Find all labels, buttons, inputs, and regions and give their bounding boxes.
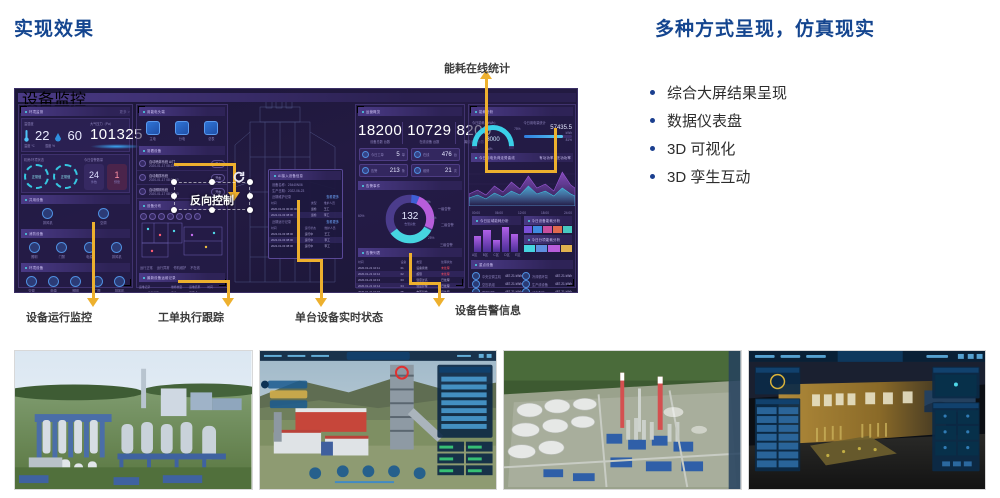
- floorplan-map[interactable]: [140, 221, 226, 259]
- corner-decor: [456, 279, 463, 286]
- kpi-value: 476: [442, 152, 452, 158]
- page-title-right: 多种方式呈现，仿真现实: [655, 14, 875, 41]
- alarm-donut-chart: 132 告警总数 5% 一级告警 10% 二级告警 25% 三级告警 60%: [356, 192, 464, 246]
- floor-chip[interactable]: [149, 213, 156, 220]
- panel-title-label: 告警事件: [366, 183, 380, 188]
- popup-more-link[interactable]: 查看更多: [326, 219, 339, 224]
- panel-title-label: 今日设备能耗分析: [532, 218, 561, 223]
- status-dot-icon: [25, 233, 27, 235]
- slide-root: 实现效果 多种方式呈现，仿真现实 综合大屏结果呈现 数据仪表盘 3D 可视化 3…: [0, 0, 1000, 498]
- list-item: 综合大屏结果呈现: [650, 78, 980, 106]
- callout-device-monitoring: 设备运行监控: [26, 309, 92, 325]
- tick-label: 12:00: [518, 211, 526, 215]
- device-tile[interactable]: 空调: [22, 276, 41, 293]
- resize-handle[interactable]: [247, 207, 253, 213]
- kpi-value: 213: [390, 168, 400, 174]
- popup-maintenance-table: 时间 类型 维护人员 2020-01-01 00:00:00 巡检 王工 202…: [269, 200, 342, 218]
- humidity-value: 60: [67, 129, 81, 142]
- fire-device-row: 照明 门禁 电源 排风机: [19, 240, 132, 261]
- status-dot-icon: [143, 277, 145, 279]
- warning-count-card: 1 预警: [107, 164, 127, 190]
- stat-card: 10729 在线设备 台数: [402, 122, 456, 144]
- panel-title-label: 今日分项能耗分析: [532, 237, 561, 242]
- resize-handle[interactable]: [209, 179, 215, 185]
- tick-label: C区: [493, 252, 499, 257]
- callout-energy: 能耗在线统计: [444, 60, 510, 76]
- swatch: [548, 245, 559, 252]
- swatch: [524, 245, 535, 252]
- overview-stats: 18200 设备总数 台数 10729 在线设备 台数 8200 离线设备 台数: [356, 118, 464, 146]
- popup-section-runtime: 近期运行记录: [272, 219, 291, 224]
- leader-line: [297, 200, 300, 262]
- panel-title-label: 用能电头端: [147, 109, 165, 114]
- slice-pct: 10%: [430, 216, 436, 220]
- key-device-list: 中央空调主机 487.21 kWh 冷却循环泵 487.21 kWh 空压机组 …: [469, 271, 575, 293]
- list-item[interactable]: 空压机组 487.21 kWh: [472, 280, 522, 288]
- panel-title: 消防设备: [21, 229, 130, 238]
- device-icon: [472, 288, 480, 293]
- kpi-card[interactable]: 在线 476 台: [411, 148, 460, 161]
- status-dot-icon: [528, 239, 530, 241]
- status-dot-icon: [476, 220, 478, 222]
- resize-handle[interactable]: [247, 193, 253, 199]
- reverse-control-label: 反向控制: [190, 192, 234, 208]
- corner-decor: [138, 106, 145, 113]
- list-item-label: 综合大屏结果呈现: [667, 82, 787, 103]
- popup-field-name: 设备名称：25440N06: [269, 181, 342, 188]
- popup-title: AI接入设备信息: [270, 171, 341, 180]
- panel-title-label: 最新设备运维记录: [147, 275, 176, 280]
- alarm-count-label: 今日告警数量: [84, 157, 127, 162]
- meter-total-icon: [204, 121, 218, 135]
- device-icon: [139, 188, 146, 195]
- corner-decor: [20, 106, 27, 113]
- status-dot-icon: [25, 267, 27, 269]
- status-ring-b: 正常值: [53, 164, 78, 189]
- corner-decor: [470, 106, 477, 113]
- status-dot-icon: [475, 157, 477, 159]
- popup-section-maintenance: 近期维护记录: [272, 194, 291, 199]
- page-title-left: 实现效果: [14, 14, 94, 41]
- temperature-unit: 温度 ℃: [24, 143, 35, 148]
- meter-main-icon: [146, 121, 160, 135]
- meter-card[interactable]: 主电: [140, 121, 165, 141]
- list-item-label: 3D 孪生互动: [667, 166, 750, 187]
- callout-device-alarm-info: 设备告警信息: [455, 302, 521, 318]
- meter-branch-icon: [175, 121, 189, 135]
- slice-name: 三级告警: [440, 242, 453, 247]
- panel-environment: 环境监测 更多 > 温湿度 22: [18, 104, 133, 288]
- swatch: [561, 245, 572, 252]
- device-tile[interactable]: 电源: [44, 276, 63, 293]
- status-dot-icon: [143, 150, 145, 152]
- maintenance-table: 运维记录 维修类型 运维结果 时间 SN001检修记录01 日常 已完成 202…: [137, 284, 227, 293]
- stat-value: 18200: [358, 122, 402, 139]
- status-dot-icon: [25, 199, 27, 201]
- progress-pct: 81%: [524, 138, 573, 142]
- device-tile[interactable]: 门禁: [50, 242, 75, 259]
- slice-pct: 5%: [426, 200, 431, 204]
- semi-gauge: 3000: [472, 125, 514, 149]
- panel-title: 告警事件: [358, 181, 462, 190]
- gauge-value: 3000: [472, 137, 514, 143]
- device-icon: [139, 174, 146, 181]
- leader-line: [554, 128, 557, 173]
- swatch: [563, 226, 572, 233]
- resize-handle[interactable]: [247, 179, 253, 185]
- floor-chip[interactable]: [194, 213, 201, 220]
- meter-card[interactable]: 分电: [169, 121, 194, 141]
- leader-line: [485, 75, 488, 173]
- panel-title-label: 环境监测: [29, 109, 43, 114]
- gallery-image-4[interactable]: [748, 350, 987, 490]
- leader-line: [409, 282, 441, 285]
- callout-workorder-tracking: 工单执行跟踪: [158, 309, 224, 325]
- fan-icon: [42, 208, 53, 219]
- table-row[interactable]: SN001检修记录01 日常 已完成 2020-01-21: [137, 290, 227, 293]
- shared-device-row: 排风机 空调: [19, 206, 132, 227]
- floor-chip[interactable]: [167, 213, 174, 220]
- status-dot-icon: [362, 185, 364, 187]
- meter-card-row: 主电 分电 总表: [137, 118, 227, 144]
- panel-title: 今日区域能耗分析: [472, 216, 521, 225]
- online-icon: [414, 151, 421, 158]
- humidity-drop-icon: [55, 133, 61, 142]
- humidity-unit: 湿度 %: [45, 143, 55, 148]
- bullet-dot-icon: [650, 174, 655, 179]
- legend-item: 有功功率: [539, 155, 553, 160]
- list-item[interactable]: 冷却循环泵 487.21 kWh: [522, 272, 572, 280]
- device-icon: [472, 280, 480, 288]
- device-energy-swatches: [524, 226, 573, 233]
- energy-total-card: 今日用电量统计 57435.5 kWh 81%: [524, 120, 573, 149]
- dashboard-header: 设备监控: [18, 93, 576, 102]
- kpi-card[interactable]: 维修 21 次: [411, 164, 460, 177]
- bullet-dot-icon: [650, 118, 655, 123]
- leader-line: [409, 253, 412, 285]
- popup-title-label: AI接入设备信息: [278, 173, 303, 178]
- device-icon: [139, 160, 146, 167]
- env-readings: 温湿度 22 60: [21, 118, 130, 152]
- swatch: [543, 226, 552, 233]
- workorder-icon: [362, 151, 369, 158]
- panel-title-label: 今日区域能耗分析: [480, 218, 509, 223]
- gauge-pct: 75%: [514, 127, 520, 131]
- status-dot-icon: [274, 175, 276, 177]
- bar: [502, 227, 509, 252]
- slice-pct: 25%: [428, 236, 434, 240]
- panel-title: 环境监测 更多 >: [21, 107, 130, 116]
- device-info-popup[interactable]: AI接入设备信息 设备名称：25440N06 生产日期：2022-06-23 近…: [268, 169, 343, 259]
- leader-line: [92, 222, 95, 302]
- panel-title-label: 运营概览: [366, 109, 380, 114]
- device-tile[interactable]: 照明: [22, 242, 47, 259]
- leader-line: [320, 259, 323, 301]
- map-legend: 运行正常 运行异常 停机维护 不在线: [137, 264, 227, 271]
- temperature-value: 22: [35, 129, 49, 142]
- panel-title: 重点设备: [471, 260, 573, 269]
- popup-more-link[interactable]: 查看更多: [326, 194, 339, 199]
- bullet-dot-icon: [650, 90, 655, 95]
- gallery-strip: [14, 350, 986, 490]
- status-dot-icon: [475, 264, 477, 266]
- list-item-label: 3D 可视化: [667, 138, 735, 159]
- light-icon: [70, 276, 81, 287]
- room-status-label: 机房/环境状态: [24, 157, 80, 162]
- device-tile[interactable]: 空调: [78, 208, 130, 225]
- area-energy-bars: [472, 226, 521, 252]
- kpi-value: 5: [396, 152, 399, 158]
- tick-label: E区: [515, 252, 520, 257]
- alarm-bell-icon: [362, 167, 369, 174]
- list-item-label: 数据仪表盘: [667, 110, 742, 131]
- leader-line: [178, 280, 230, 283]
- leader-arrow-icon: [315, 298, 327, 307]
- callout-device-realtime-status: 单台设备实时状态: [295, 309, 383, 325]
- device-icon: [522, 288, 530, 293]
- bar: [483, 230, 490, 252]
- list-item: 数据仪表盘: [650, 106, 980, 134]
- gallery-image-2[interactable]: [259, 350, 498, 490]
- corner-decor: [567, 279, 574, 286]
- status-dot-icon: [143, 205, 145, 207]
- popup-runtime-table: 时间 运行状态 维护人员 2022-01-03 08:00 运行中 王工 202…: [269, 225, 342, 249]
- tick-label: 24:00: [564, 211, 572, 215]
- kpi-card[interactable]: 今日工单 5 单: [359, 148, 408, 161]
- status-ring-a: 正常值: [24, 164, 49, 189]
- panel-title-label: 环境设备: [29, 265, 43, 270]
- panel-title-label: 告警列表: [366, 250, 380, 255]
- list-item[interactable]: 生产线设备 487.21 kWh: [522, 280, 572, 288]
- kpi-grid: 今日工单 5 单 在线 476 台 告警 213 条: [356, 146, 464, 179]
- stat-label: 在线设备 台数: [407, 139, 451, 144]
- leader-arrow-icon: [433, 298, 445, 307]
- table-row[interactable]: 2022-01-03 08:00 运行中 李工: [269, 243, 342, 249]
- panel-title-label: 设备分布: [147, 203, 161, 208]
- list-item[interactable]: 动力配电 487.21 kWh: [522, 288, 572, 293]
- device-tile[interactable]: 排风机: [105, 242, 130, 259]
- swatch: [536, 245, 547, 252]
- panel-title-label: 常看设备: [147, 148, 161, 153]
- status-and-alarms: 机房/环境状态 正常值 正常值 今日告警数量 24 件数: [21, 154, 130, 193]
- slice-name: 二级告警: [441, 222, 454, 227]
- leader-arrow-icon: [87, 298, 99, 307]
- floor-chip[interactable]: [176, 213, 183, 220]
- tick-label: B区: [483, 252, 488, 257]
- thermometer-icon: [24, 130, 29, 142]
- stat-value: 10729: [407, 122, 451, 139]
- table-row[interactable]: 2020-01-21 10:15 05 电压异常 已处理: [356, 289, 464, 293]
- device-tile[interactable]: 门禁: [88, 276, 107, 293]
- swatch: [533, 226, 542, 233]
- slice-name: 一级告警: [438, 206, 451, 211]
- donut-caption: 告警总数: [404, 222, 415, 226]
- panel-more-link[interactable]: 更多 >: [119, 109, 130, 114]
- panel-title: 常看设备: [139, 146, 225, 155]
- bullet-dot-icon: [650, 146, 655, 151]
- tick-label: 18:00: [541, 211, 549, 215]
- panel-title: 今日分项能耗分析: [524, 235, 573, 244]
- device-tile[interactable]: 照明: [66, 276, 85, 293]
- panel-title: 今日设备能耗分析: [524, 216, 573, 225]
- resize-handle[interactable]: [171, 193, 177, 199]
- legend-item: 无功功率: [557, 155, 571, 160]
- leader-line: [174, 163, 236, 166]
- refresh-icon[interactable]: [232, 170, 246, 184]
- list-item[interactable]: 照明回路 487.21 kWh: [472, 288, 522, 293]
- gallery-image-1[interactable]: [14, 350, 253, 490]
- energy-gauge-card: 今日能耗（kWh） 3000 75% kWh: [472, 120, 521, 149]
- resize-handle[interactable]: [171, 207, 177, 213]
- category-energy-swatches: [524, 245, 573, 252]
- panel-title: 运营概览: [358, 107, 462, 116]
- env-device-row: 空调 电源 照明 门禁 排风机: [19, 274, 132, 293]
- device-tile[interactable]: 电源: [77, 242, 102, 259]
- floor-chip[interactable]: [185, 213, 192, 220]
- kpi-card[interactable]: 告警 213 条: [359, 164, 408, 177]
- swatch: [524, 226, 533, 233]
- status-badge: 已处理: [439, 289, 464, 293]
- panel-title-label: 消防设备: [29, 231, 43, 236]
- feature-list: 综合大屏结果呈现 数据仪表盘 3D 可视化 3D 孪生互动: [650, 78, 980, 190]
- swatch: [553, 226, 562, 233]
- sprinkler-icon: [29, 242, 40, 253]
- panel-title: 环境设备: [21, 263, 130, 272]
- status-dot-icon: [528, 220, 530, 222]
- list-item[interactable]: 中央空调主机 487.21 kWh: [472, 272, 522, 280]
- leader-line: [485, 170, 557, 173]
- bar: [511, 234, 518, 252]
- floor-chip[interactable]: [158, 213, 165, 220]
- kpi-value: 21: [445, 168, 452, 174]
- panel-title: 共用设备: [21, 195, 130, 204]
- panel-title-label: 重点设备: [479, 262, 493, 267]
- water-icon: [26, 276, 37, 287]
- meter-card[interactable]: 总表: [199, 121, 224, 141]
- alarm-count-card: 24 件数: [84, 164, 104, 190]
- power-icon: [48, 276, 59, 287]
- list-item: 3D 可视化: [650, 134, 980, 162]
- slice-pct: 60%: [358, 214, 364, 218]
- status-dot-icon: [362, 252, 364, 254]
- stat-label: 设备总数 台数: [358, 139, 402, 144]
- floor-selector[interactable]: [137, 212, 227, 221]
- dashboard-screenshot: 设备监控 环境监测 更多 > 温湿度: [14, 88, 578, 293]
- bar: [493, 240, 500, 252]
- stat-card: 18200 设备总数 台数: [358, 122, 402, 144]
- wrench-icon: [414, 167, 421, 174]
- panel-title: 用能电头端: [139, 107, 225, 116]
- resize-handle[interactable]: [171, 179, 177, 185]
- donut-value: 132: [402, 212, 419, 222]
- device-icon: [472, 272, 480, 280]
- tick-label: D区: [504, 252, 510, 257]
- panel-title-label: 共用设备: [29, 197, 43, 202]
- leader-arrow-icon: [222, 298, 234, 307]
- gallery-image-3[interactable]: [503, 350, 742, 490]
- tick-label: 00:00: [472, 211, 480, 215]
- tick-label: A区: [472, 252, 477, 257]
- device-tile[interactable]: 排风机: [22, 208, 74, 225]
- ac-icon: [98, 208, 109, 219]
- smoke-icon: [56, 242, 67, 253]
- list-item: 3D 孪生互动: [650, 162, 980, 190]
- corner-decor: [124, 279, 131, 286]
- bar: [474, 236, 481, 252]
- corner-decor: [357, 106, 364, 113]
- device-icon: [522, 272, 530, 280]
- lock-icon: [111, 242, 122, 253]
- floor-chip[interactable]: [140, 213, 147, 220]
- device-icon: [522, 280, 530, 288]
- tick-label: 06:00: [495, 211, 503, 215]
